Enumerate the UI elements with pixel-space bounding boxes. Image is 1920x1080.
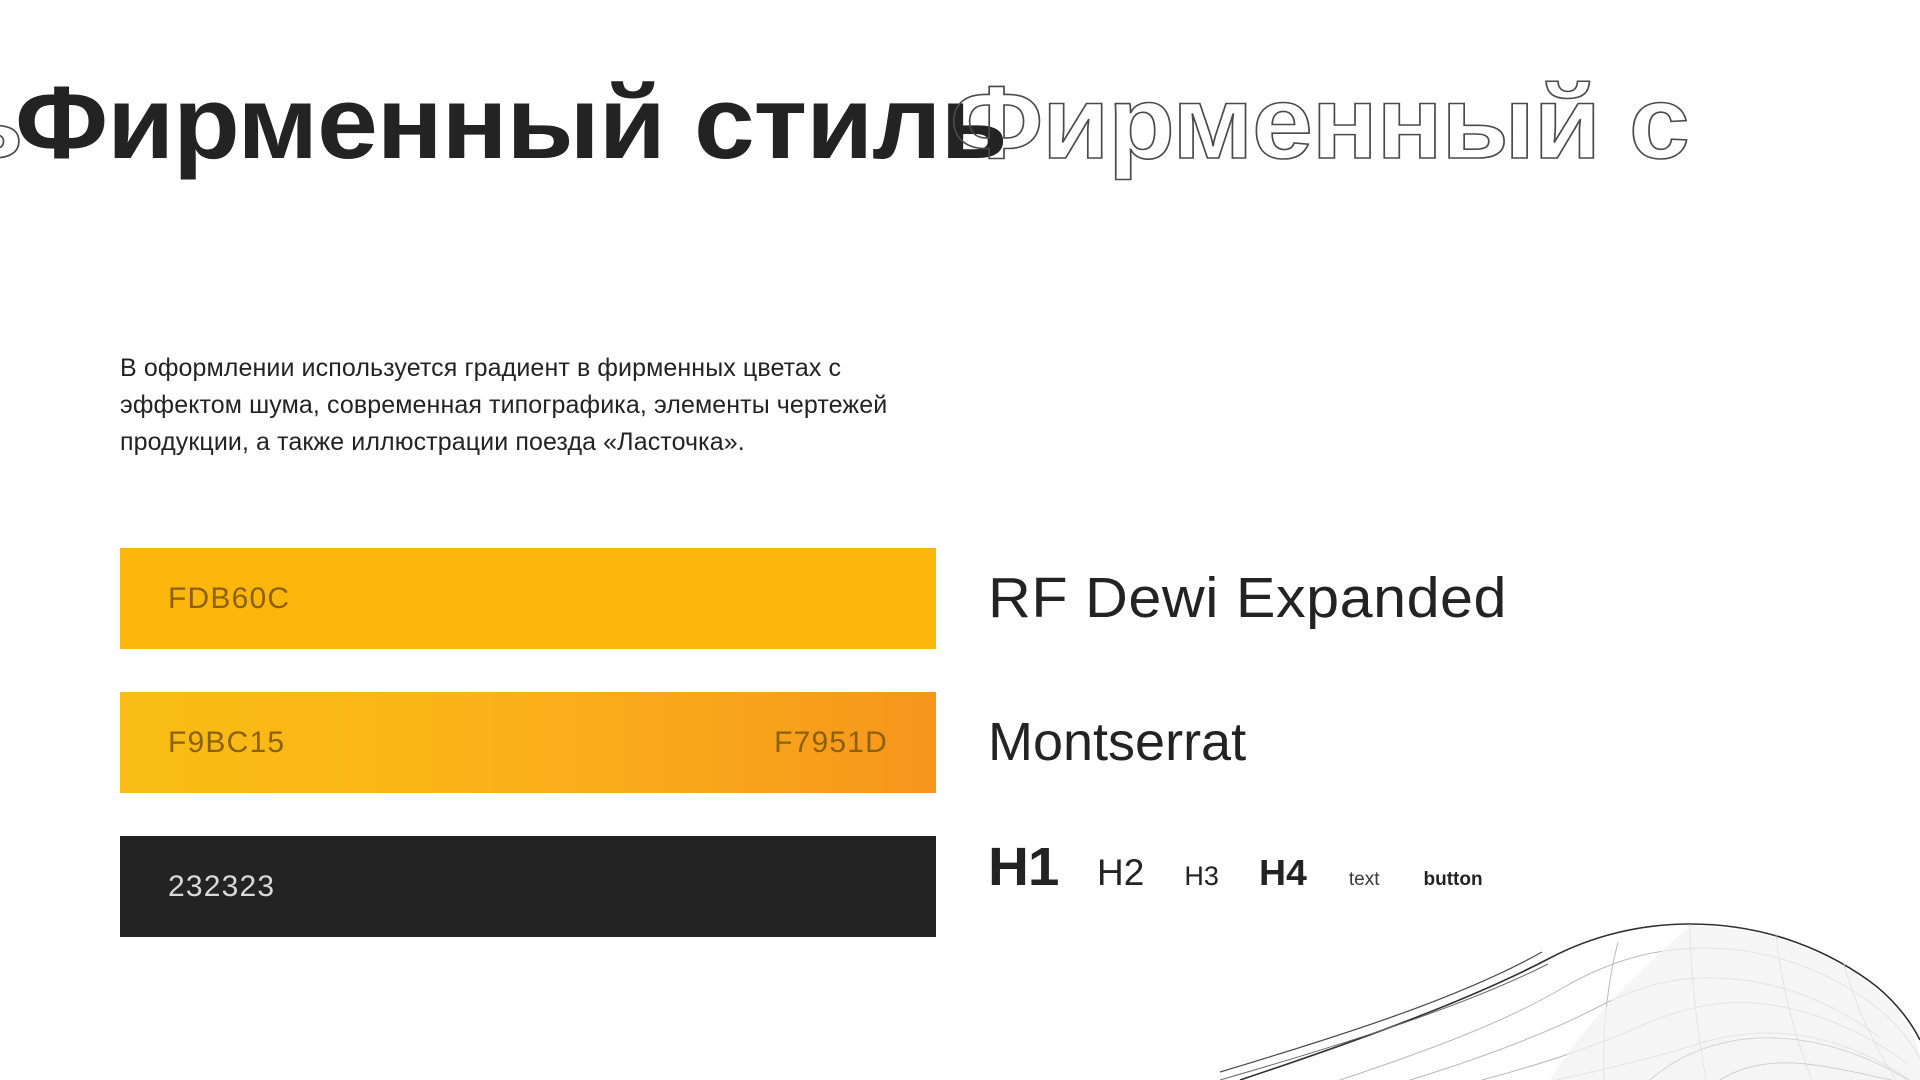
color-swatch-hex: FDB60C [168,582,290,616]
headline-marquee: ль Фирменный стиль Фирменный с [0,62,1920,182]
typeface-primary: RF Dewi Expanded [988,548,1862,649]
color-palette: FDB60C F9BC15 F7951D 232323 [120,548,936,937]
color-swatch-hex-start: F9BC15 [168,726,285,760]
color-swatch-gradient: F9BC15 F7951D [120,692,936,793]
color-swatch-dark: 232323 [120,836,936,937]
type-scale-text: text [1349,869,1380,891]
intro-paragraph: В оформлении используется градиент в фир… [120,350,910,460]
page-title: Фирменный стиль [15,71,1007,174]
headline-outline-right: Фирменный с [950,71,1689,174]
typeface-secondary: Montserrat [988,692,1828,793]
headline-track: ль Фирменный стиль Фирменный с [0,71,1647,174]
typography-section: RF Dewi Expanded Montserrat H1 H2 H3 H4 … [988,548,1828,937]
type-scale-row: H1 H2 H3 H4 text button [988,836,1828,937]
type-scale-h4: H4 [1259,852,1307,894]
type-scale-button: button [1424,869,1483,891]
type-scale-h3: H3 [1184,861,1219,892]
color-swatch-hex-end: F7951D [774,726,888,760]
type-scale-h2: H2 [1097,852,1144,894]
color-swatch-hex: 232323 [168,870,275,904]
type-scale-h1: H1 [988,836,1058,898]
color-swatch-primary: FDB60C [120,548,936,649]
